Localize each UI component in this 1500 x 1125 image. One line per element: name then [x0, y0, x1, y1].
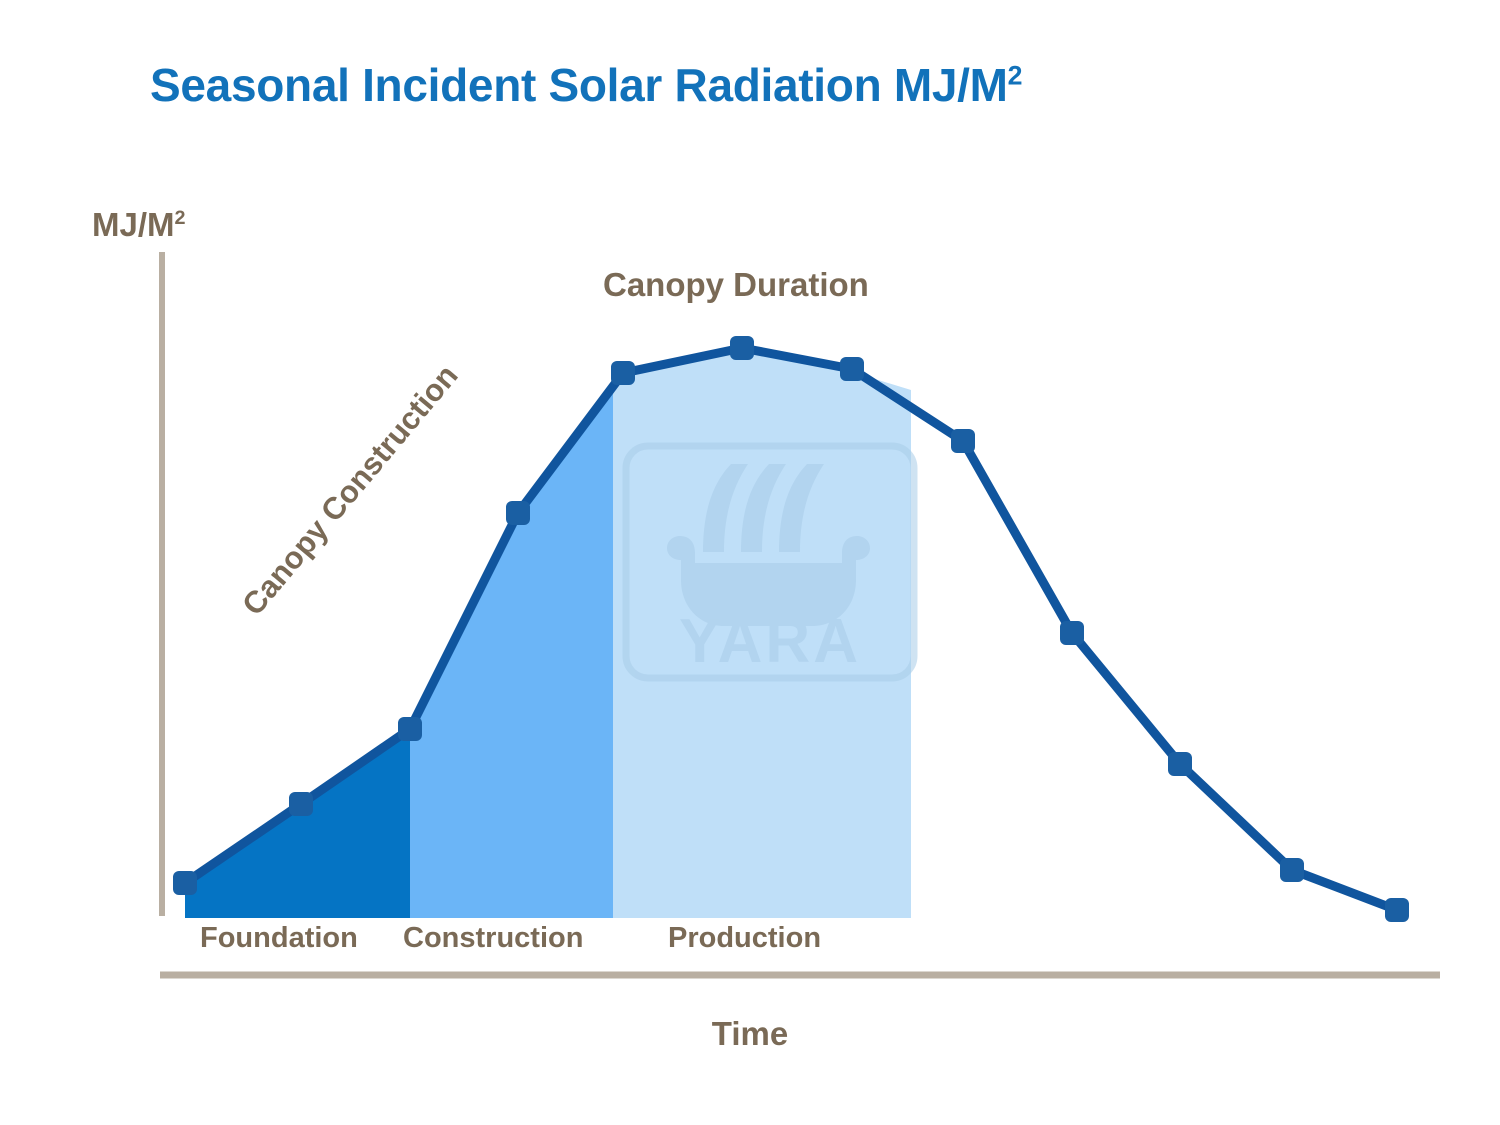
data-point-marker: [289, 792, 313, 816]
data-point-marker: [398, 717, 422, 741]
slide-canvas: Seasonal Incident Solar Radiation MJ/M2 …: [0, 0, 1500, 1125]
phase-label-production: Production: [668, 922, 821, 955]
data-point-marker: [173, 871, 197, 895]
data-point-marker: [1168, 752, 1192, 776]
x-axis-title: Time: [0, 1015, 1500, 1053]
data-point-marker: [1385, 898, 1409, 922]
phase-label-construction: Construction: [403, 922, 583, 955]
chart-plot-area: YARA: [0, 0, 1500, 1125]
data-point-marker: [840, 357, 864, 381]
annotation-canopy-duration: Canopy Duration: [603, 266, 869, 304]
phase-label-foundation: Foundation: [200, 922, 358, 955]
data-point-marker: [611, 361, 635, 385]
data-point-marker: [730, 336, 754, 360]
data-point-marker: [1280, 858, 1304, 882]
data-point-marker: [951, 429, 975, 453]
yara-logo-wordmark: YARA: [679, 607, 861, 676]
data-point-marker: [506, 501, 530, 525]
data-point-marker: [1060, 621, 1084, 645]
